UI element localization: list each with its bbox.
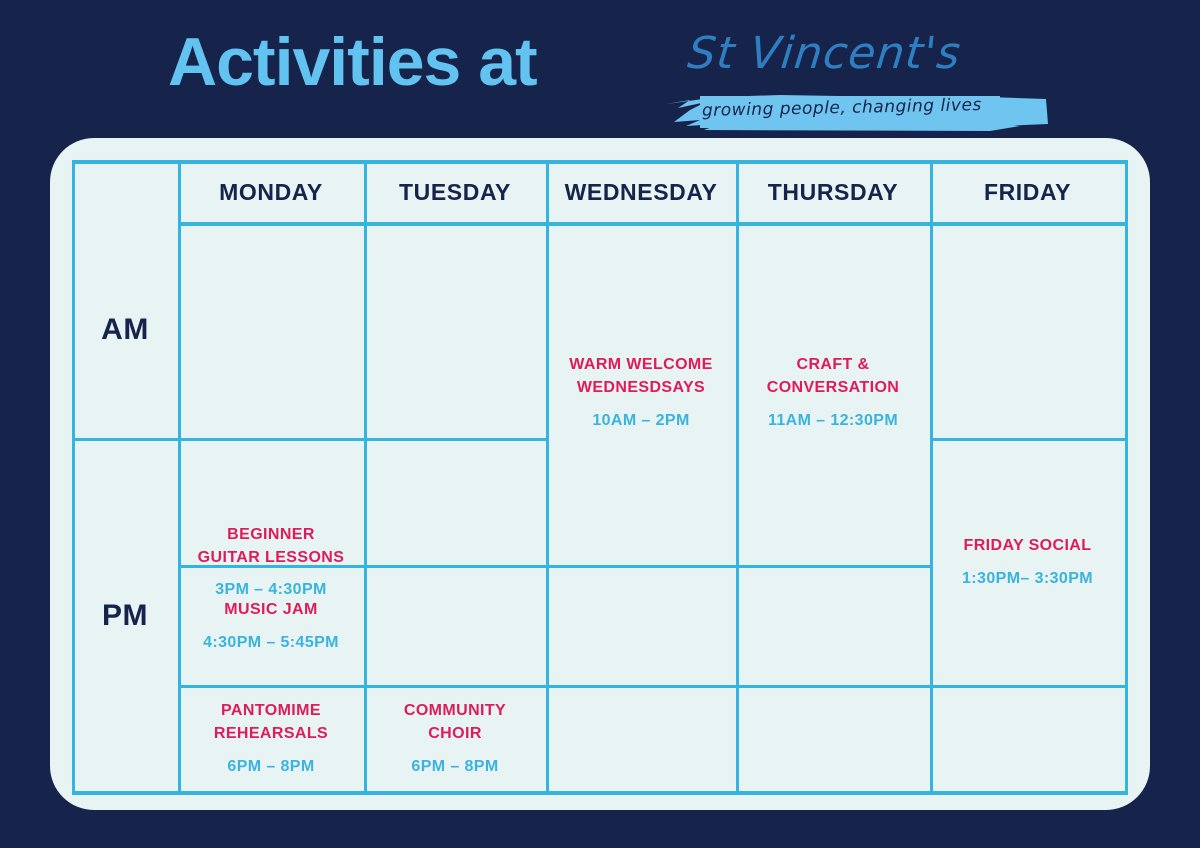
event-time: 1:30PM– 3:30PM	[962, 568, 1093, 591]
event-time: 11AM – 12:30PM	[768, 410, 898, 433]
column-header-label: THURSDAY	[768, 179, 898, 206]
event-title-line2: WEDNESDSAYS	[577, 377, 705, 400]
column-header-wednesday: WEDNESDAY	[546, 163, 736, 222]
cell-friday-pm-1[interactable]: FRIDAY SOCIAL 1:30PM– 3:30PM	[930, 441, 1125, 685]
event-time: 6PM – 8PM	[227, 756, 314, 779]
column-header-label: WEDNESDAY	[565, 179, 718, 206]
cell-friday-pm-2[interactable]	[930, 688, 1125, 791]
cell-thursday-pm-1[interactable]	[736, 568, 930, 685]
cell-monday-am[interactable]	[178, 222, 364, 438]
grid-line-right	[1125, 160, 1128, 794]
event-title-line1: FRIDAY SOCIAL	[964, 535, 1092, 558]
event-time: 4:30PM – 5:45PM	[203, 632, 339, 655]
event-title-line2: CONVERSATION	[767, 377, 900, 400]
grid-line-bottom	[72, 791, 1128, 795]
event-title-line1: MUSIC JAM	[224, 599, 317, 622]
event-time: 6PM – 8PM	[411, 756, 498, 779]
cell-wednesday-am[interactable]: WARM WELCOME WEDNESDSAYS 10AM – 2PM	[546, 222, 736, 565]
schedule-poster: Activities at St Vincent's growing peopl…	[0, 0, 1200, 848]
row-label-text: PM	[102, 599, 148, 633]
column-header-label: FRIDAY	[984, 179, 1071, 206]
cell-wednesday-pm-2[interactable]	[546, 688, 736, 791]
cell-thursday-pm-2[interactable]	[736, 688, 930, 791]
event-title-line1: CRAFT &	[796, 354, 869, 377]
cell-monday-pm-3[interactable]: PANTOMIME REHEARSALS 6PM – 8PM	[178, 688, 364, 791]
page-title: Activities at	[168, 28, 537, 96]
row-label-pm: PM	[72, 441, 178, 791]
event-title-line2: REHEARSALS	[214, 723, 328, 746]
logo-wordmark: St Vincent's	[685, 28, 963, 79]
cell-thursday-am[interactable]: CRAFT & CONVERSATION 11AM – 12:30PM	[736, 222, 930, 565]
row-label-text: AM	[101, 313, 149, 347]
row-label-am: AM	[72, 222, 178, 438]
column-header-label: TUESDAY	[399, 179, 511, 206]
column-header-friday: FRIDAY	[930, 163, 1125, 222]
organisation-logo: St Vincent's growing people, changing li…	[660, 28, 1060, 138]
column-header-label: MONDAY	[219, 179, 323, 206]
schedule-grid: MONDAY TUESDAY WEDNESDAY THURSDAY FRIDAY…	[72, 160, 1128, 794]
event-title-line1: COMMUNITY	[404, 700, 506, 723]
schedule-card: MONDAY TUESDAY WEDNESDAY THURSDAY FRIDAY…	[50, 138, 1150, 810]
column-header-thursday: THURSDAY	[736, 163, 930, 222]
event-title-line1: BEGINNER	[227, 524, 315, 547]
event-title-line1: WARM WELCOME	[569, 354, 712, 377]
column-header-tuesday: TUESDAY	[364, 163, 546, 222]
cell-tuesday-pm-2[interactable]: COMMUNITY CHOIR 6PM – 8PM	[364, 688, 546, 791]
event-time: 10AM – 2PM	[592, 410, 689, 433]
cell-tuesday-pm-1[interactable]	[364, 441, 546, 685]
event-title-line2: GUITAR LESSONS	[198, 547, 345, 570]
column-header-monday: MONDAY	[178, 163, 364, 222]
poster-header: Activities at St Vincent's growing peopl…	[0, 0, 1200, 140]
cell-friday-am[interactable]	[930, 222, 1125, 438]
cell-monday-pm-2[interactable]: MUSIC JAM 4:30PM – 5:45PM	[178, 568, 364, 685]
event-title-line2: CHOIR	[428, 723, 482, 746]
event-title-line1: PANTOMIME	[221, 700, 321, 723]
table-corner-cell	[72, 163, 178, 222]
cell-wednesday-pm-1[interactable]	[546, 568, 736, 685]
cell-tuesday-am[interactable]	[364, 222, 546, 438]
